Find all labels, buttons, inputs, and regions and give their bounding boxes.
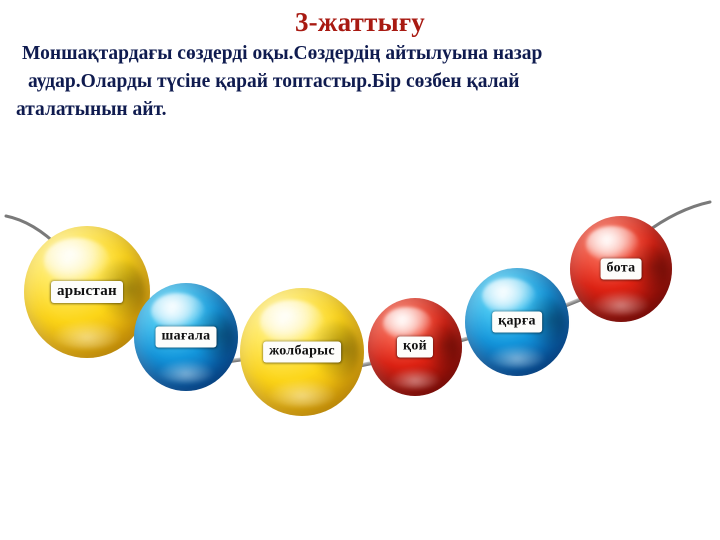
beads-image: арыстан шағала жолбарыс қой қарға [0, 176, 720, 476]
instruction-paragraph: Моншақтардағы сөздерді оқы.Сөздердің айт… [0, 40, 720, 123]
instruction-line-1: Моншақтардағы сөздерді оқы.Сөздердің айт… [16, 40, 706, 68]
bead-2-label: шағала [156, 327, 217, 348]
instruction-line-2: аудар.Оларды түсіне қарай топтастыр.Бір … [16, 68, 706, 96]
bead-4[interactable]: қой [368, 298, 462, 396]
bead-1[interactable]: арыстан [24, 226, 150, 358]
bead-3[interactable]: жолбарыс [240, 288, 364, 416]
bead-3-label: жолбарыс [263, 342, 341, 363]
bead-6[interactable]: бота [570, 216, 672, 322]
bead-stage: арыстан шағала жолбарыс қой қарға [0, 176, 720, 476]
bead-5[interactable]: қарға [465, 268, 569, 376]
bead-1-label: арыстан [51, 281, 123, 303]
page-title: 3-жаттығу [0, 0, 720, 36]
bead-5-label: қарға [492, 312, 542, 333]
bead-2[interactable]: шағала [134, 283, 238, 391]
instruction-line-3: аталатынын айт. [16, 96, 706, 124]
bead-4-label: қой [397, 337, 433, 358]
bead-6-label: бота [601, 259, 642, 280]
